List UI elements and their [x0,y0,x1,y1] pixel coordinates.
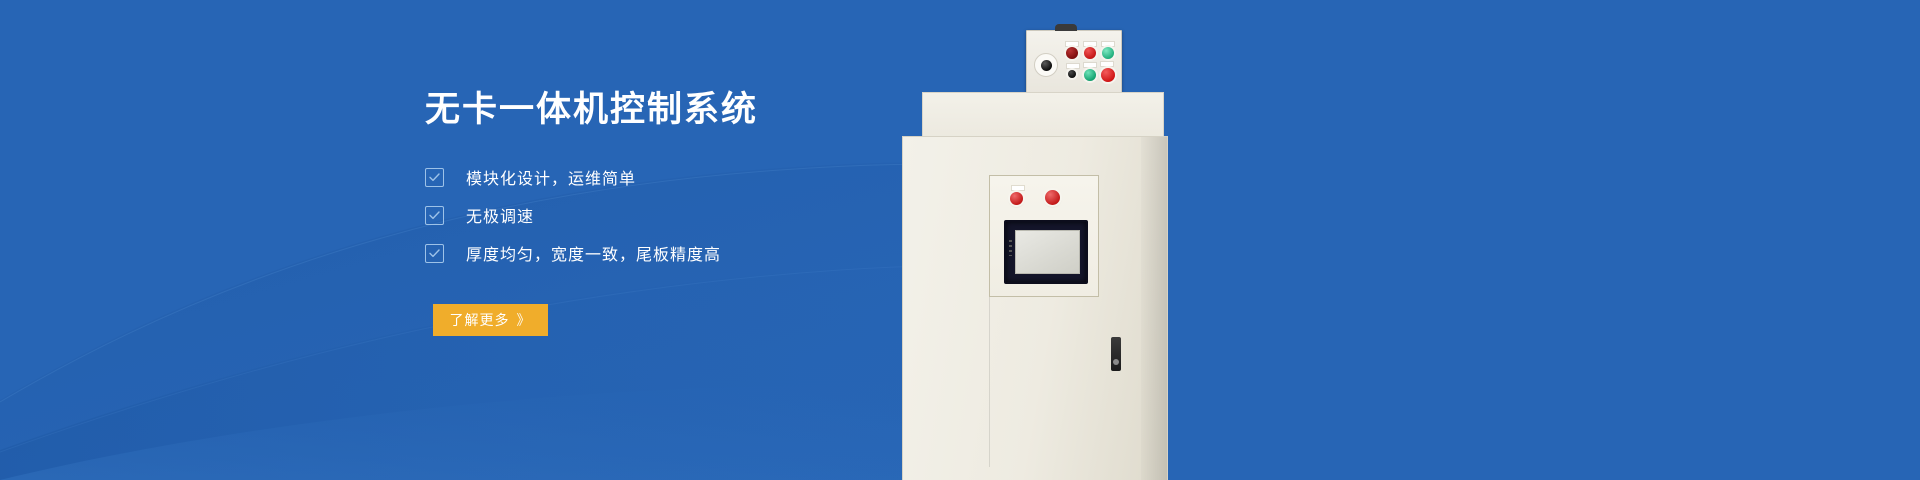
push-button-grid [1065,41,1117,85]
checkbox-check-icon [425,206,444,225]
cabinet-top-cap [922,92,1164,140]
button-black[interactable] [1068,70,1076,78]
learn-more-label: 了解更多 [450,310,510,330]
button-label-plate [1083,62,1097,68]
cabinet-body [902,136,1168,480]
checkbox-check-icon [425,244,444,263]
panel-button-red-large[interactable] [1045,190,1060,205]
cabinet-door-lock[interactable] [1111,337,1121,371]
panel-button-red-small[interactable] [1010,192,1023,205]
learn-more-button[interactable]: 了解更多 》 [433,304,548,336]
feature-text: 模块化设计，运维简单 [466,165,636,189]
double-chevron-right-icon: 》 [517,310,532,330]
control-box [1026,30,1122,94]
rotary-selector-knob-icon[interactable] [1034,53,1058,77]
product-photo [900,0,1200,480]
button-dark-red[interactable] [1066,47,1078,59]
button-label-plate [1100,61,1114,67]
button-red-large[interactable] [1101,68,1115,82]
feature-text: 厚度均匀，宽度一致，尾板精度高 [466,241,721,265]
feature-text: 无极调速 [466,203,534,227]
hmi-vent-dots [1009,240,1012,256]
button-green-2[interactable] [1084,69,1096,81]
button-green[interactable] [1102,47,1114,59]
checkbox-check-icon [425,168,444,187]
hmi-touchscreen[interactable] [1004,220,1088,284]
hmi-panel-inset [989,175,1099,297]
button-label-plate [1011,185,1025,191]
button-label-plate [1066,63,1080,69]
hero-banner: 无卡一体机控制系统 模块化设计，运维简单 无极调速 [0,0,1920,480]
cabinet-side-shading [1141,137,1167,480]
hmi-screen-surface[interactable] [1015,230,1080,274]
button-red[interactable] [1084,47,1096,59]
